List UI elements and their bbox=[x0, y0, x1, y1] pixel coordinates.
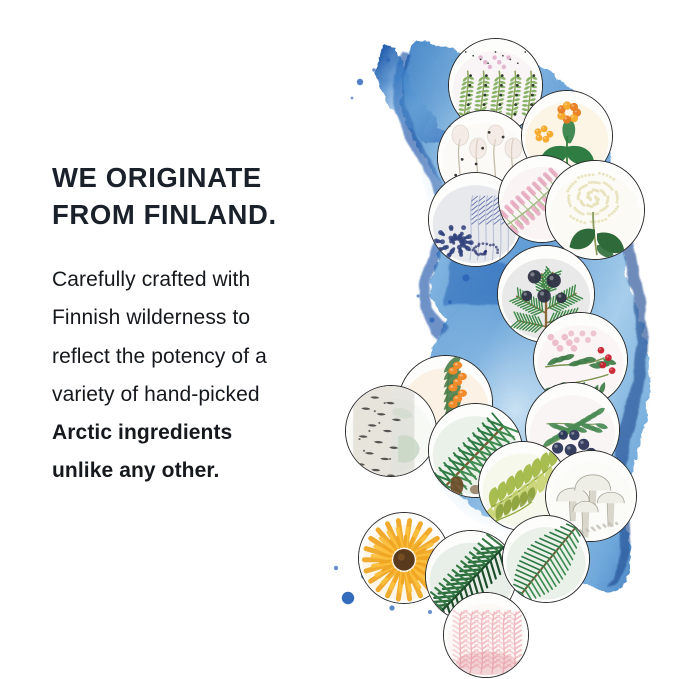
poster-root: WE ORIGINATE FROM FINLAND. Carefully cra… bbox=[0, 0, 679, 679]
splatter-dot bbox=[334, 566, 338, 570]
birch-bark-circle bbox=[345, 385, 437, 477]
text-panel: WE ORIGINATE FROM FINLAND. Carefully cra… bbox=[52, 160, 352, 490]
body-line: Arctic ingredients bbox=[52, 414, 352, 452]
map-illustration bbox=[330, 10, 679, 679]
fir-sprig-circle bbox=[502, 515, 590, 603]
splatter-dot bbox=[417, 295, 420, 298]
pink-fireweed-circle bbox=[443, 592, 529, 678]
splatter-dot bbox=[448, 300, 452, 304]
body-line: reflect the potency of a bbox=[52, 338, 352, 376]
body-line: Finnish wilderness to bbox=[52, 299, 352, 337]
page-title: WE ORIGINATE FROM FINLAND. bbox=[52, 160, 352, 233]
body-line: unlike any other. bbox=[52, 452, 352, 490]
body-copy: Carefully crafted withFinnish wilderness… bbox=[52, 261, 352, 490]
splatter-dot bbox=[342, 592, 354, 604]
splatter-dot bbox=[428, 610, 432, 614]
body-line: variety of hand-picked bbox=[52, 376, 352, 414]
splatter-dot bbox=[386, 58, 390, 62]
splatter-dot bbox=[351, 97, 354, 100]
splatter-dot bbox=[429, 317, 434, 322]
splatter-dot bbox=[389, 605, 394, 610]
splatter-dot bbox=[462, 274, 469, 281]
splatter-dot bbox=[357, 79, 363, 85]
body-line: Carefully crafted with bbox=[52, 261, 352, 299]
splatter-dot bbox=[372, 68, 376, 72]
elderflower-circle bbox=[545, 160, 645, 260]
